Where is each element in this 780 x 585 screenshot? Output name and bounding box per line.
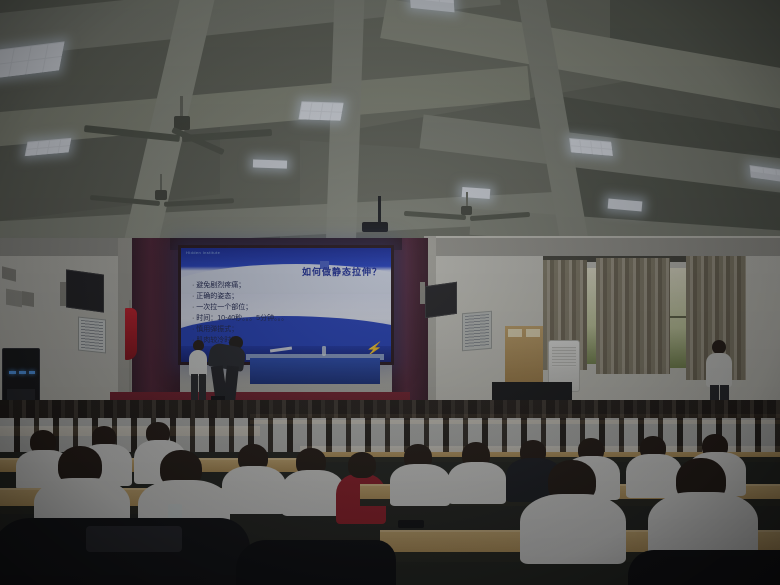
ceiling bbox=[0, 0, 780, 250]
wall-speaker-right bbox=[425, 282, 457, 318]
lecture-hall-photo: Hidden Institute 如何做静态拉伸？ 避免剧烈疼痛； 正确的姿态；… bbox=[0, 0, 780, 585]
wall-bracket bbox=[22, 291, 34, 307]
ceiling-projector bbox=[362, 222, 388, 232]
notice-board-text-lines bbox=[81, 320, 103, 350]
table-water-bottle bbox=[322, 346, 326, 356]
audience-heads-far bbox=[0, 400, 780, 420]
notice-board-left bbox=[78, 317, 106, 354]
slide-bullet: 正确的姿态； bbox=[192, 291, 288, 302]
window-curtain bbox=[596, 258, 670, 374]
ceiling-light-panel bbox=[253, 159, 287, 168]
slide-header-wordmark: Hidden Institute bbox=[186, 250, 220, 255]
student-body bbox=[520, 494, 626, 564]
slide-title: 如何做静态拉伸？ bbox=[302, 265, 382, 278]
wall-speaker-left bbox=[66, 269, 104, 312]
foreground-silhouette bbox=[236, 540, 396, 585]
student-body bbox=[390, 464, 450, 506]
wall-bracket bbox=[6, 289, 22, 308]
student-body bbox=[626, 454, 682, 498]
window-mullion bbox=[670, 316, 686, 318]
student-body bbox=[448, 462, 506, 504]
slide-bullet: 时间：10-40秒。。。5分钟。。。 bbox=[192, 313, 288, 324]
slide-bullet: 避免剧烈疼痛； bbox=[192, 280, 288, 291]
audience-area bbox=[0, 400, 780, 585]
presenter-table bbox=[250, 358, 380, 384]
student-body bbox=[222, 466, 286, 514]
ceiling-light-panel bbox=[298, 101, 343, 120]
window-pane bbox=[586, 268, 596, 364]
ceiling-fan bbox=[130, 120, 250, 160]
slide-bullet: 慎用弹振式； bbox=[192, 324, 288, 335]
student-head bbox=[348, 452, 376, 478]
window-pane bbox=[670, 268, 686, 368]
tshirt-graphic bbox=[86, 526, 182, 552]
notice-board-right bbox=[462, 311, 492, 352]
ceiling-fan bbox=[120, 190, 220, 222]
foreground-silhouette bbox=[628, 550, 780, 585]
wooden-door bbox=[505, 326, 543, 388]
ceiling-fan bbox=[430, 206, 520, 234]
chinese-flag bbox=[125, 308, 137, 360]
mobile-phone bbox=[398, 520, 424, 528]
presenter bbox=[205, 336, 249, 410]
slide-bullet: 一次拉一个部位； bbox=[192, 302, 288, 313]
notice-board-text-lines bbox=[465, 314, 489, 348]
student-body bbox=[282, 470, 344, 516]
